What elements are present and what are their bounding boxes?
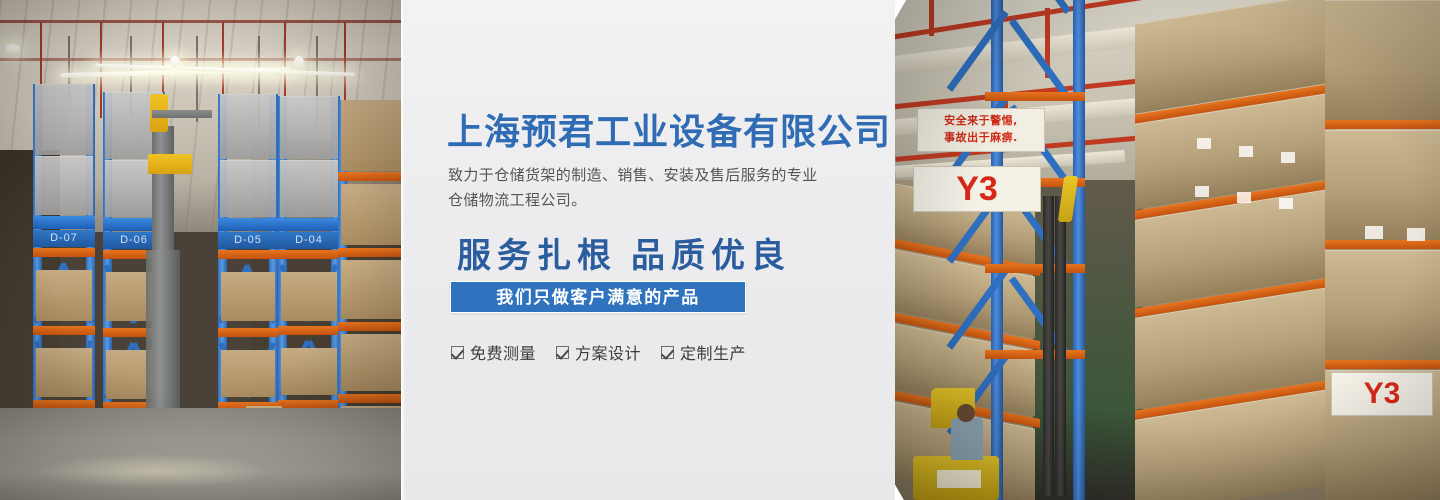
slogan-part-1: 服务扎根 — [457, 238, 617, 275]
checkbox-checked-icon — [556, 346, 569, 359]
photo-vignette — [0, 0, 401, 500]
feature-item-custom-production: 定制生产 — [661, 340, 746, 364]
photo-vignette — [895, 0, 1440, 500]
left-warehouse-photo: D-07 D-06 — [0, 0, 401, 500]
feature-label: 方案设计 — [575, 340, 641, 364]
slogan-part-2: 品质优良 — [631, 238, 791, 275]
feature-label: 免费测量 — [470, 340, 536, 364]
feature-label: 定制生产 — [680, 340, 746, 364]
subtitle-line-1: 致力于仓储货架的制造、销售、安装及售后服务的专业 — [448, 163, 868, 188]
company-title: 上海预君工业设备有限公司 — [447, 103, 891, 155]
feature-item-free-measurement: 免费测量 — [451, 340, 536, 364]
subtitle-line-2: 仓储物流工程公司。 — [448, 188, 868, 213]
right-photo-wrapper: 安全来于警惕, 事故出于麻痹. Y3 Y3 — [895, 0, 1440, 500]
feature-list: 免费测量 方案设计 定制生产 — [451, 340, 746, 364]
cta-button[interactable]: 我们只做客户满意的产品 — [450, 281, 746, 313]
checkbox-checked-icon — [661, 346, 674, 359]
company-subtitle: 致力于仓储货架的制造、销售、安装及售后服务的专业 仓储物流工程公司。 — [448, 163, 868, 213]
feature-item-solution-design: 方案设计 — [556, 340, 641, 364]
company-hero-banner: D-07 D-06 — [0, 0, 1440, 500]
slogan: 服务扎根品质优良 — [457, 228, 791, 277]
circular-photo-mask: 安全来于警惕, 事故出于麻痹. Y3 Y3 — [895, 0, 1440, 500]
checkbox-checked-icon — [451, 346, 464, 359]
right-warehouse-photo: 安全来于警惕, 事故出于麻痹. Y3 Y3 — [895, 0, 1440, 500]
hero-copy: 上海预君工业设备有限公司 致力于仓储货架的制造、销售、安装及售后服务的专业 仓储… — [447, 0, 917, 500]
left-photo-edge — [401, 0, 405, 500]
